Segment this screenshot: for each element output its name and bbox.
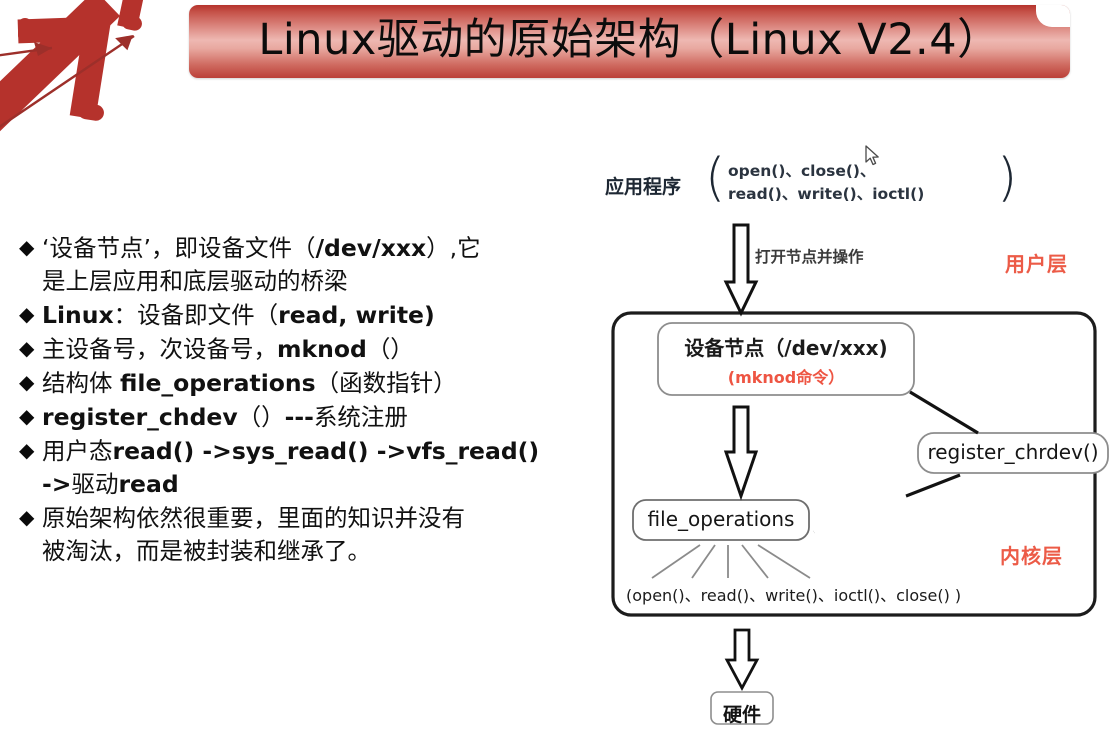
list-item: ◆ 主设备号，次设备号，mknod（） (8, 333, 596, 366)
list-item-label: register_chdev（）---系统注册 (42, 401, 596, 434)
device-node-title: 设备节点（/dev/xxx) (673, 332, 899, 361)
corner-decoration-graphic (0, 0, 200, 175)
diamond-bullet-icon: ◆ (8, 333, 42, 366)
list-item-label: 结构体 file_operations（函数指针） (42, 367, 596, 400)
open-node-annotation: 打开节点并操作 (755, 245, 864, 267)
app-syscalls-line-1: open()、close()、 (728, 160, 924, 183)
banner-corner-fold (1036, 5, 1070, 27)
kernel-layer-label: 内核层 (1000, 540, 1063, 569)
list-item-label: ‘设备节点’，即设备文件（/dev/xxx）,它是上层应用和底层驱动的桥梁 (42, 232, 596, 298)
list-item: ◆ Linux：设备即文件（read, write) (8, 299, 596, 332)
user-layer-label: 用户层 (1005, 248, 1068, 277)
diamond-bullet-icon: ◆ (8, 367, 42, 400)
list-item: ◆ register_chdev（）---系统注册 (8, 401, 596, 434)
diamond-bullet-icon: ◆ (8, 232, 42, 265)
device-node-subtitle: (mknod命令） (673, 364, 899, 388)
file-operations-label: file_operations (636, 507, 806, 531)
app-paren-open: ( (705, 152, 725, 204)
file-operations-members-label: (open()、read()、write()、ioctl()、close() ) (626, 582, 961, 606)
diamond-bullet-icon: ◆ (8, 502, 42, 535)
list-item-label: 用户态read() ->sys_read() ->vfs_read()->驱动r… (42, 435, 596, 501)
bullet-list: ◆ ‘设备节点’，即设备文件（/dev/xxx）,它是上层应用和底层驱动的桥梁 … (8, 232, 596, 569)
page-title: Linux驱动的原始架构（Linux V2.4） (258, 19, 1000, 62)
application-syscalls-label: open()、close()、 read()、write()、ioctl() (728, 160, 924, 206)
list-item: ◆ 原始架构依然很重要，里面的知识并没有被淘汰，而是被封装和继承了。 (8, 502, 596, 568)
app-syscalls-line-2: read()、write()、ioctl() (728, 183, 924, 206)
list-item-label: 主设备号，次设备号，mknod（） (42, 333, 596, 366)
diamond-bullet-icon: ◆ (8, 299, 42, 332)
arrow-app-to-devnode (726, 225, 756, 313)
list-item: ◆ 结构体 file_operations（函数指针） (8, 367, 596, 400)
list-item-label: Linux：设备即文件（read, write) (42, 299, 596, 332)
diamond-bullet-icon: ◆ (8, 435, 42, 468)
diagram-shapes (600, 130, 1115, 734)
arrow-kernel-to-hardware (727, 630, 757, 688)
list-item: ◆ ‘设备节点’，即设备文件（/dev/xxx）,它是上层应用和底层驱动的桥梁 (8, 232, 596, 298)
list-item-label: 原始架构依然很重要，里面的知识并没有被淘汰，而是被封装和继承了。 (42, 502, 596, 568)
slide-title-banner: Linux驱动的原始架构（Linux V2.4） (189, 5, 1070, 78)
architecture-diagram: 应用程序 ( open()、close()、 read()、write()、io… (600, 130, 1115, 734)
hardware-label: 硬件 (714, 700, 770, 727)
app-paren-close: ) (997, 152, 1017, 204)
application-layer-label: 应用程序 (605, 172, 681, 199)
diamond-bullet-icon: ◆ (8, 401, 42, 434)
register-chrdev-label: register_chrdev() (922, 440, 1104, 464)
list-item: ◆ 用户态read() ->sys_read() ->vfs_read()->驱… (8, 435, 596, 501)
